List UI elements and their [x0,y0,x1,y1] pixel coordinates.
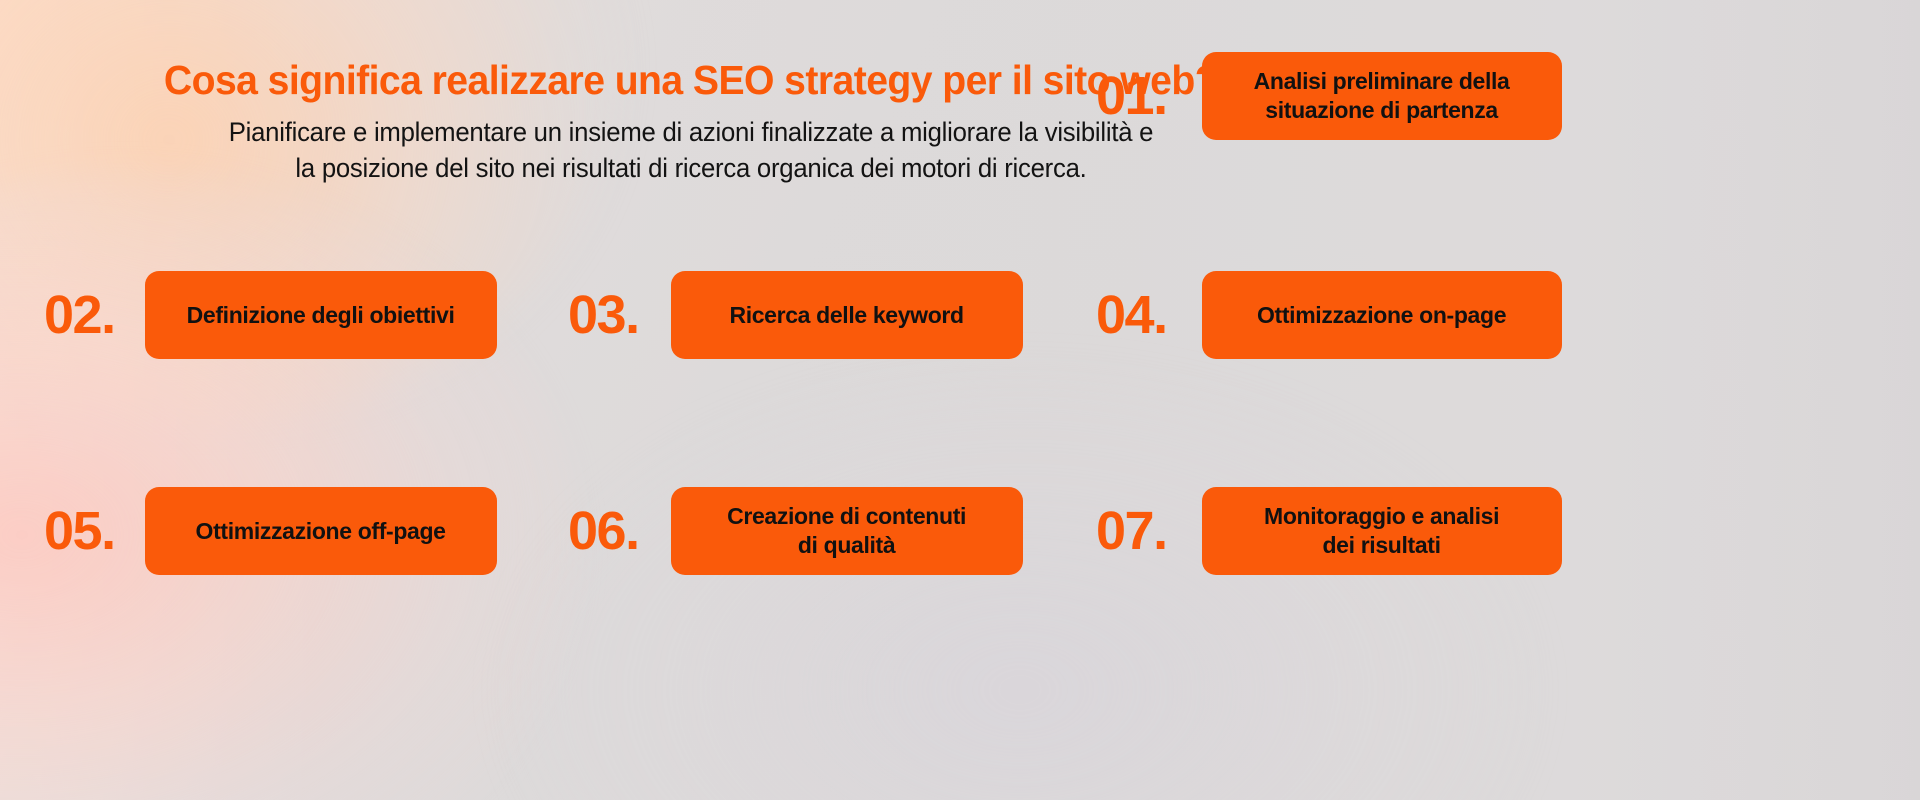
step-number-07: 07. [1096,504,1167,558]
step-card-line: Creazione di contenuti [727,502,966,531]
step-card-label-05: Ottimizzazione off-page [196,517,446,546]
step-card-05[interactable]: Ottimizzazione off-page [145,487,497,575]
step-item-01: 01. Analisi preliminare della situazione… [1096,52,1562,140]
step-number-04: 04. [1096,288,1167,342]
step-number-03: 03. [568,288,639,342]
step-card-label-04: Ottimizzazione on-page [1257,301,1506,330]
step-item-07: 07. Monitoraggio e analisi dei risultati [1096,487,1562,575]
step-card-line: dei risultati [1264,531,1499,560]
step-card-01[interactable]: Analisi preliminare della situazione di … [1202,52,1562,140]
step-card-line: Definizione degli obiettivi [187,301,455,330]
step-number-02: 02. [44,288,115,342]
step-card-07[interactable]: Monitoraggio e analisi dei risultati [1202,487,1562,575]
step-card-03[interactable]: Ricerca delle keyword [671,271,1023,359]
step-card-04[interactable]: Ottimizzazione on-page [1202,271,1562,359]
step-card-label-01: Analisi preliminare della situazione di … [1254,67,1510,125]
step-number-01: 01. [1096,69,1167,123]
step-item-06: 06. Creazione di contenuti di qualità [568,487,1023,575]
step-card-line: Ricerca delle keyword [729,301,963,330]
step-item-02: 02. Definizione degli obiettivi [44,271,497,359]
step-number-06: 06. [568,504,639,558]
step-number-05: 05. [44,504,115,558]
step-card-line: Analisi preliminare della [1254,67,1510,96]
page-subtitle-line-2: la posizione del sito nei risultati di r… [206,150,1176,186]
step-item-03: 03. Ricerca delle keyword [568,271,1023,359]
step-card-02[interactable]: Definizione degli obiettivi [145,271,497,359]
step-card-line: Ottimizzazione on-page [1257,301,1506,330]
step-card-line: Monitoraggio e analisi [1264,502,1499,531]
page-subtitle: Pianificare e implementare un insieme di… [206,114,1176,187]
step-card-label-06: Creazione di contenuti di qualità [727,502,966,560]
step-card-06[interactable]: Creazione di contenuti di qualità [671,487,1023,575]
page-subtitle-line-1: Pianificare e implementare un insieme di… [206,114,1176,150]
step-card-label-02: Definizione degli obiettivi [187,301,455,330]
step-item-04: 04. Ottimizzazione on-page [1096,271,1562,359]
step-card-label-07: Monitoraggio e analisi dei risultati [1264,502,1499,560]
step-card-line: Ottimizzazione off-page [196,517,446,546]
step-card-line: situazione di partenza [1254,96,1510,125]
step-card-label-03: Ricerca delle keyword [729,301,963,330]
step-card-line: di qualità [727,531,966,560]
step-item-05: 05. Ottimizzazione off-page [44,487,497,575]
seo-strategy-infographic: Cosa significa realizzare una SEO strate… [0,0,1920,800]
